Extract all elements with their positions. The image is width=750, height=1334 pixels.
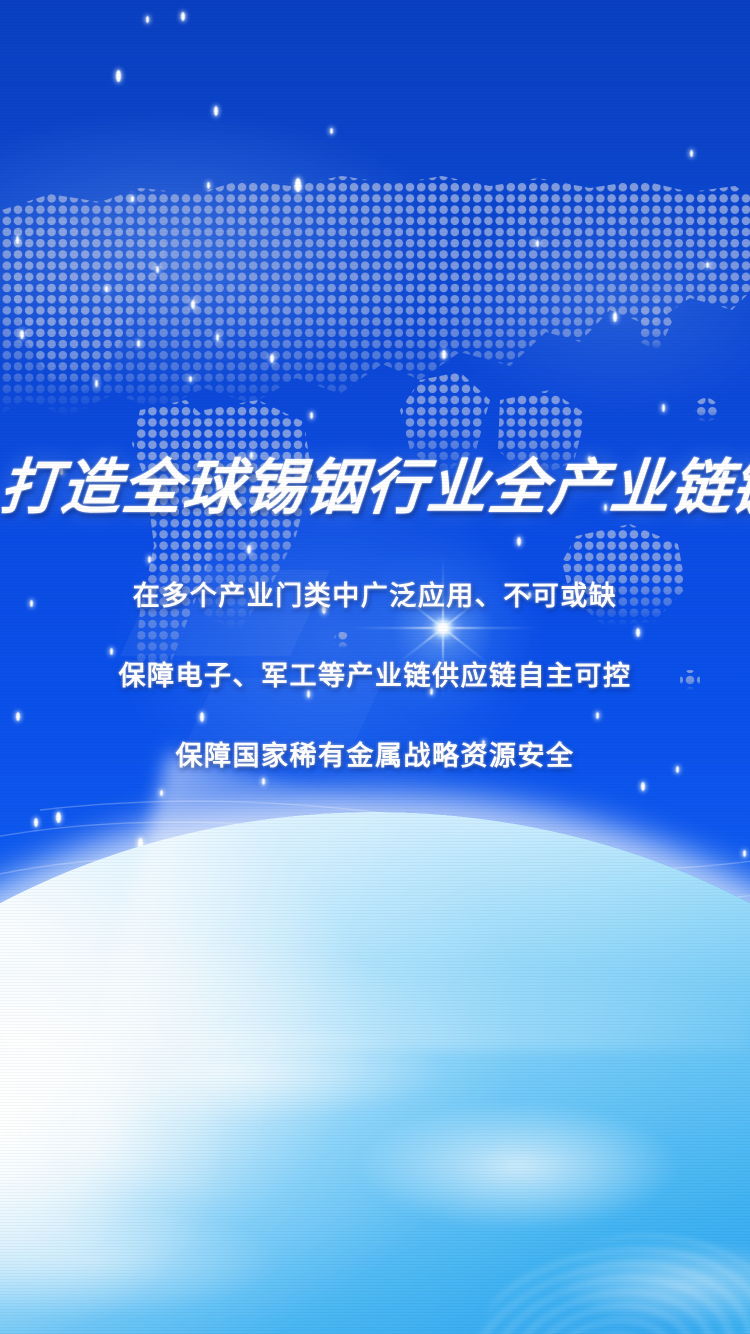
subtitle-line-3: 保障国家稀有金属战略资源安全 — [0, 743, 750, 770]
subtitle-line-2: 保障电子、军工等产业链供应链自主可控 — [0, 663, 750, 690]
poster-canvas: 打造全球锡铟行业全产业链链主 在多个产业门类中广泛应用、不可或缺 保障电子、军工… — [0, 0, 750, 1334]
subtitle-list: 在多个产业门类中广泛应用、不可或缺 保障电子、军工等产业链供应链自主可控 保障国… — [0, 556, 750, 770]
earth-horizon — [0, 812, 750, 1334]
subtitle-line-1: 在多个产业门类中广泛应用、不可或缺 — [0, 583, 750, 610]
page-title: 打造全球锡铟行业全产业链链主 — [0, 458, 750, 518]
